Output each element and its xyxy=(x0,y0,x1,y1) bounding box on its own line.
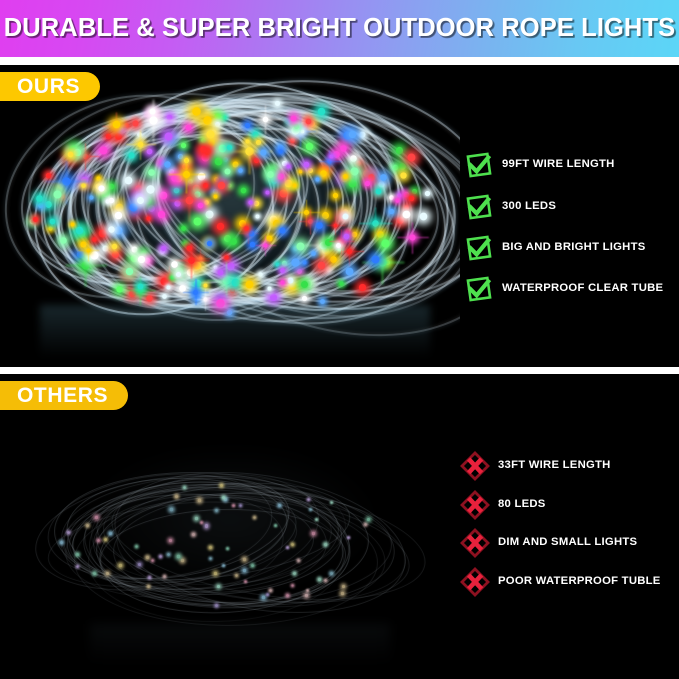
feature-label: 300 LEDS xyxy=(502,201,556,212)
feature-label: 99FT WIRE LENGTH xyxy=(502,159,615,170)
green-check-diamond-icon xyxy=(464,192,494,222)
feature-label: WATERPROOF CLEAR TUBE xyxy=(502,283,663,294)
product-photo-others xyxy=(0,374,460,679)
feature-label: 33FT WIRE LENGTH xyxy=(498,460,611,471)
product-photo-ours xyxy=(0,65,460,367)
feature-row: 300 LEDS xyxy=(464,192,556,222)
page-title: DURABLE & SUPER BRIGHT OUTDOOR ROPE LIGH… xyxy=(0,14,679,43)
feature-label: 80 LEDS xyxy=(498,499,546,510)
red-x-diamond-icon xyxy=(460,567,490,597)
feature-label: DIM AND SMALL LIGHTS xyxy=(498,537,637,548)
feature-list-ours: 99FT WIRE LENGTH 300 LEDS xyxy=(460,65,679,367)
feature-row: BIG AND BRIGHT LIGHTS xyxy=(464,233,646,263)
feature-row: 33FT WIRE LENGTH xyxy=(460,451,611,481)
green-check-diamond-icon xyxy=(464,274,494,304)
green-check-diamond-icon xyxy=(464,233,494,263)
badge-ours-label: OURS xyxy=(17,76,80,97)
red-x-diamond-icon xyxy=(460,451,490,481)
feature-label: POOR WATERPROOF TUBLE xyxy=(498,576,661,587)
photo-reflection xyxy=(40,305,430,367)
divider-top xyxy=(0,57,679,65)
divider-middle xyxy=(0,367,679,374)
badge-others-label: OTHERS xyxy=(17,385,108,406)
green-check-diamond-icon xyxy=(464,150,494,180)
feature-list-others: 33FT WIRE LENGTH 80 LEDS xyxy=(460,374,679,679)
badge-ours: OURS xyxy=(0,72,100,101)
badge-others: OTHERS xyxy=(0,381,128,410)
comparison-infographic: DURABLE & SUPER BRIGHT OUTDOOR ROPE LIGH… xyxy=(0,0,679,679)
feature-row: 99FT WIRE LENGTH xyxy=(464,150,615,180)
section-others: OTHERS 33FT WIRE LENGTH xyxy=(0,374,679,679)
feature-row: WATERPROOF CLEAR TUBE xyxy=(464,274,663,304)
feature-row: DIM AND SMALL LIGHTS xyxy=(460,528,637,558)
photo-reflection xyxy=(90,624,390,669)
red-x-diamond-icon xyxy=(460,490,490,520)
feature-label: BIG AND BRIGHT LIGHTS xyxy=(502,242,646,253)
feature-row: 80 LEDS xyxy=(460,490,546,520)
section-ours: OURS 99FT WIRE LENGTH xyxy=(0,65,679,367)
red-x-diamond-icon xyxy=(460,528,490,558)
header-banner: DURABLE & SUPER BRIGHT OUTDOOR ROPE LIGH… xyxy=(0,0,679,57)
feature-row: POOR WATERPROOF TUBLE xyxy=(460,567,661,597)
